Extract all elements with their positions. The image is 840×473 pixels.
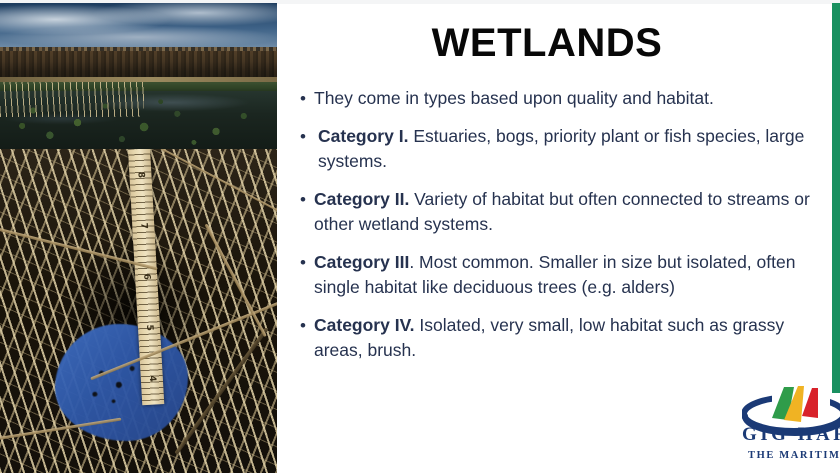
ruler-number: 8 bbox=[135, 171, 145, 178]
list-item-text: They come in types based upon quality an… bbox=[314, 86, 820, 111]
ruler-number: 4 bbox=[146, 376, 156, 383]
list-item-body: They come in types based upon quality an… bbox=[314, 88, 714, 108]
list-item: • They come in types based upon quality … bbox=[300, 86, 820, 111]
bullet-icon: • bbox=[300, 313, 314, 338]
list-item: • Category I. Estuaries, bogs, priority … bbox=[300, 124, 820, 174]
list-item-text: Category I. Estuaries, bogs, priority pl… bbox=[314, 124, 820, 174]
bullet-icon: • bbox=[300, 187, 314, 212]
bullet-list: • They come in types based upon quality … bbox=[300, 86, 820, 376]
bullet-icon: • bbox=[300, 86, 314, 111]
ruler-number: 5 bbox=[143, 324, 153, 331]
logo-tagline: THE MARITIME CITY bbox=[748, 450, 840, 461]
list-item: • Category III. Most common. Smaller in … bbox=[300, 250, 820, 300]
wetland-marsh-photo bbox=[0, 3, 277, 149]
gig-harbor-logo: GIG HARBOR THE MARITIME CITY bbox=[742, 382, 840, 473]
photo-column: 8 7 6 5 4 bbox=[0, 3, 277, 473]
bullet-icon: • bbox=[300, 250, 314, 275]
green-accent-bar bbox=[832, 3, 840, 393]
list-item-text: Category IV. Isolated, very small, low h… bbox=[314, 313, 820, 363]
list-item-label: Category I. bbox=[318, 126, 408, 146]
list-item-text: Category III. Most common. Smaller in si… bbox=[314, 250, 820, 300]
logo-city-name: GIG HARBOR bbox=[742, 424, 840, 445]
list-item-label: Category III bbox=[314, 252, 409, 272]
reeds bbox=[0, 82, 144, 117]
ruler-number: 7 bbox=[138, 222, 148, 229]
list-item: • Category II. Variety of habitat but of… bbox=[300, 187, 820, 237]
soil-illustration: 8 7 6 5 4 bbox=[0, 149, 277, 473]
page-title: WETLANDS bbox=[277, 23, 817, 63]
logo-artwork: GIG HARBOR THE MARITIME CITY bbox=[742, 382, 840, 473]
list-item-label: Category IV. bbox=[314, 315, 415, 335]
list-item: • Category IV. Isolated, very small, low… bbox=[300, 313, 820, 363]
bullet-icon: • bbox=[300, 124, 314, 149]
treeline bbox=[0, 51, 277, 80]
list-item-text: Category II. Variety of habitat but ofte… bbox=[314, 187, 820, 237]
slide-canvas: 8 7 6 5 4 WETLANDS • bbox=[0, 0, 840, 473]
list-item-label: Category II. bbox=[314, 189, 409, 209]
ruler-number: 6 bbox=[140, 273, 150, 280]
soil-ruler-photo: 8 7 6 5 4 bbox=[0, 149, 277, 473]
blue-stained-soil bbox=[55, 324, 188, 441]
marsh-illustration bbox=[0, 3, 277, 149]
